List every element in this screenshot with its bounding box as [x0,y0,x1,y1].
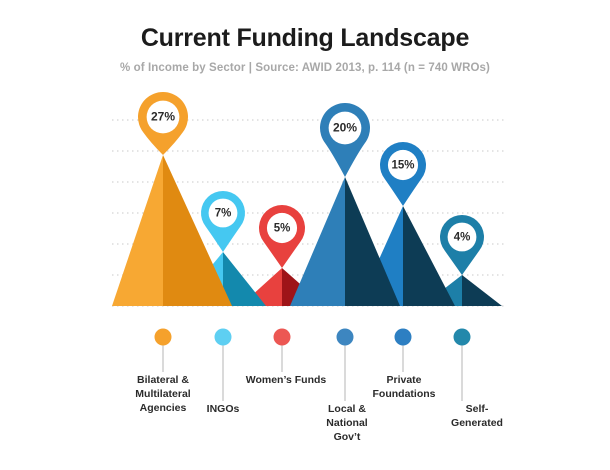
legend-label-womens-funds: Women’s Funds [246,374,327,388]
legend-dot[interactable] [215,329,232,346]
mountain-face-dark [462,275,502,306]
legend-label-private-foundations: Private Foundations [373,374,436,402]
chart-plot-area: 27%7%5%20%15%4% Bilateral & Multilateral… [0,0,610,470]
legend-dot[interactable] [274,329,291,346]
pin-value-label: 4% [454,232,471,244]
pin-value-label: 20% [333,121,357,135]
mountain-local-national-govt [290,177,400,306]
infographic-root: Current Funding Landscape % of Income by… [0,0,610,470]
value-pin-self-generated[interactable]: 4% [440,215,484,275]
legend-marker-private-foundations[interactable] [395,329,412,373]
pin-value-label: 7% [215,208,232,220]
legend-dot[interactable] [337,329,354,346]
mountain-face-light [112,155,163,306]
chart-svg: 27%7%5%20%15%4% [0,0,610,470]
value-pin-local-national-govt[interactable]: 20% [320,103,370,177]
legend-label-bilateral-multilateral-agencies: Bilateral & Multilateral Agencies [135,374,190,416]
value-pin-womens-funds[interactable]: 5% [259,205,305,268]
legend-label-local-national-govt: Local & National Gov’t [326,403,367,445]
pin-value-label: 15% [391,160,414,172]
legend-marker-self-generated[interactable] [454,329,471,402]
pin-value-label: 27% [151,110,175,124]
legend-marker-womens-funds[interactable] [274,329,291,373]
legend-marker-local-national-govt[interactable] [337,329,354,402]
value-pin-bilateral-multilateral-agencies[interactable]: 27% [138,92,188,155]
legend-dot[interactable] [454,329,471,346]
legend-dot[interactable] [395,329,412,346]
legend-marker-bilateral-multilateral-agencies[interactable] [155,329,172,373]
mountain-face-dark [223,252,266,306]
pin-value-label: 5% [274,223,291,235]
legend-marker-ingos[interactable] [215,329,232,402]
legend-label-ingos: INGOs [207,403,240,417]
legend-label-self-generated: Self- Generated [451,403,503,431]
value-pin-ingos[interactable]: 7% [201,191,245,252]
legend-dot[interactable] [155,329,172,346]
value-pin-private-foundations[interactable]: 15% [380,142,426,206]
